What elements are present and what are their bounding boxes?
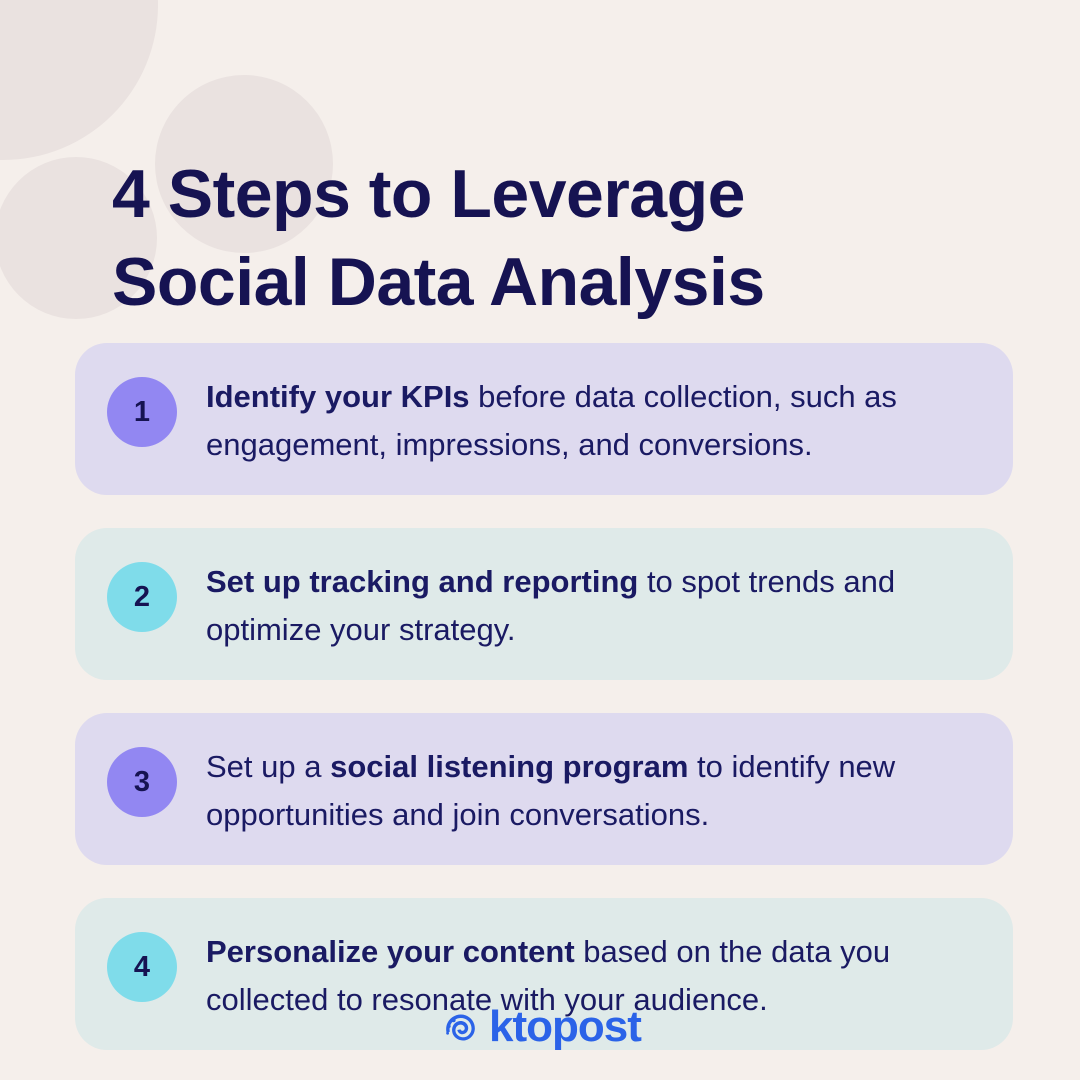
step-bold-phrase: Set up tracking and reporting [206, 564, 638, 599]
step-description: Set up a social listening program to ide… [206, 739, 983, 839]
logo-wordmark: ktopost [489, 1005, 641, 1049]
step-description: Set up tracking and reporting to spot tr… [206, 554, 983, 654]
steps-list: 1Identify your KPIs before data collecti… [75, 343, 1013, 1080]
step-bold-phrase: Personalize your content [206, 934, 575, 969]
step-lead-text: Set up a [206, 749, 330, 784]
decorative-circle-large [0, 0, 158, 160]
page-title: 4 Steps to Leverage Social Data Analysis [112, 150, 992, 326]
step-number-badge: 1 [107, 377, 177, 447]
step-number-badge: 3 [107, 747, 177, 817]
step-bold-phrase: Identify your KPIs [206, 379, 470, 414]
step-number-badge: 2 [107, 562, 177, 632]
step-number-badge: 4 [107, 932, 177, 1002]
infographic-canvas: 4 Steps to Leverage Social Data Analysis… [0, 0, 1080, 1080]
oktopost-spiral-icon [439, 1004, 485, 1050]
step-card: 3Set up a social listening program to id… [75, 713, 1013, 865]
step-card: 2Set up tracking and reporting to spot t… [75, 528, 1013, 680]
brand-logo: ktopost [0, 1004, 1080, 1050]
step-description: Identify your KPIs before data collectio… [206, 369, 983, 469]
step-card: 1Identify your KPIs before data collecti… [75, 343, 1013, 495]
step-bold-phrase: social listening program [330, 749, 688, 784]
